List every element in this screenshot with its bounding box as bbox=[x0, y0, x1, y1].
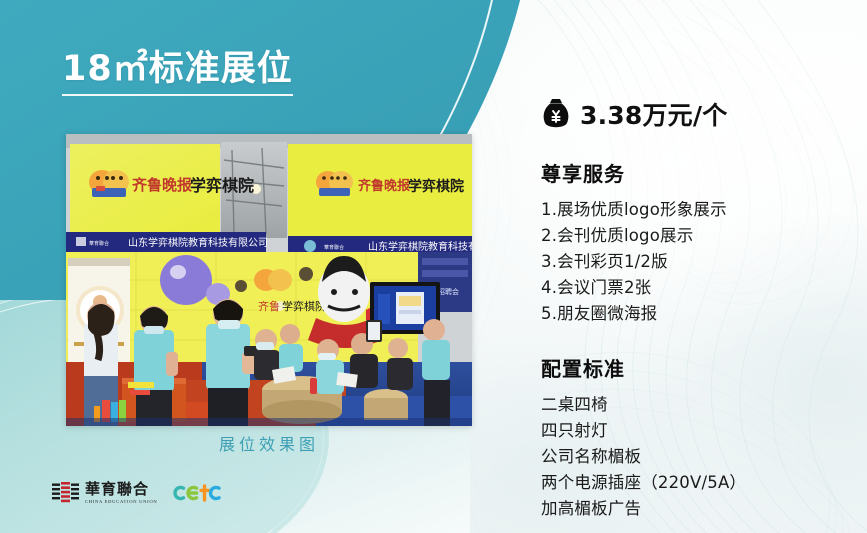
configuration-list: 二桌四椅 四只射灯 公司名称楣板 两个电源插座（220V/5A） 加高楣板广告 bbox=[541, 392, 861, 522]
list-item: 5.朋友圈微海报 bbox=[541, 301, 861, 327]
list-item: 加高楣板广告 bbox=[541, 496, 861, 522]
premium-service-list: 1.展场优质logo形象展示 2.会刊优质logo展示 3.会刊彩页1/2版 4… bbox=[541, 197, 861, 327]
cetc-logo-icon bbox=[171, 483, 221, 503]
svg-text:齐鲁晚报: 齐鲁晚报 bbox=[132, 176, 192, 194]
price-value: 3.38万元/个 bbox=[580, 96, 727, 132]
hy-mark-icon bbox=[52, 482, 79, 504]
list-item: 4.会议门票2张 bbox=[541, 275, 861, 301]
list-item: 3.会刊彩页1/2版 bbox=[541, 249, 861, 275]
money-bag-icon bbox=[541, 98, 571, 130]
brand-name-cn: 華育聯合 bbox=[85, 482, 157, 497]
page-title-text: 18㎡标准展位 bbox=[62, 52, 293, 87]
slide-root: 18㎡标准展位 bbox=[0, 0, 867, 533]
list-item: 2.会刊优质logo展示 bbox=[541, 223, 861, 249]
list-item: 两个电源插座（220V/5A） bbox=[541, 470, 861, 496]
svg-text:齐鲁晚报: 齐鲁晚报 bbox=[358, 178, 411, 194]
details-column: 3.38万元/个 尊享服务 1.展场优质logo形象展示 2.会刊优质logo展… bbox=[541, 96, 861, 522]
photo-caption: 展位效果图 bbox=[66, 431, 472, 455]
svg-text:学弈棋院: 学弈棋院 bbox=[190, 176, 254, 195]
hy-wordmark: 華育聯合 CHINA EDUCATION UNION bbox=[85, 482, 157, 504]
page-title: 18㎡标准展位 bbox=[62, 52, 293, 96]
svg-text:学弈棋院: 学弈棋院 bbox=[408, 178, 464, 195]
svg-text:山东学弈棋院教育科技有限公司: 山东学弈棋院教育科技有限公司 bbox=[368, 240, 472, 253]
section-spacer bbox=[541, 327, 861, 353]
premium-service-heading: 尊享服务 bbox=[541, 158, 861, 187]
list-item: 二桌四椅 bbox=[541, 392, 861, 418]
svg-text:華育聯合: 華育聯合 bbox=[324, 244, 344, 251]
configuration-heading: 配置标准 bbox=[541, 353, 861, 382]
title-underline bbox=[62, 94, 293, 96]
svg-text:華育聯合: 華育聯合 bbox=[89, 240, 109, 247]
svg-text:山东学弈棋院教育科技有限公司: 山东学弈棋院教育科技有限公司 bbox=[128, 236, 268, 249]
booth-photo: 齐鲁晚报 学弈棋院 齐鲁晚报 学弈棋院 山东学弈棋院教育科技有限公司 山东学弈棋… bbox=[66, 134, 472, 426]
brand-name-en: CHINA EDUCATION UNION bbox=[85, 500, 157, 505]
china-education-union-logo: 華育聯合 CHINA EDUCATION UNION bbox=[52, 482, 157, 504]
list-item: 四只射灯 bbox=[541, 418, 861, 444]
svg-text:齐鲁: 齐鲁 bbox=[258, 299, 280, 313]
list-item: 1.展场优质logo形象展示 bbox=[541, 197, 861, 223]
footer-logos: 華育聯合 CHINA EDUCATION UNION bbox=[52, 482, 221, 504]
price-row: 3.38万元/个 bbox=[541, 96, 861, 132]
list-item: 公司名称楣板 bbox=[541, 444, 861, 470]
